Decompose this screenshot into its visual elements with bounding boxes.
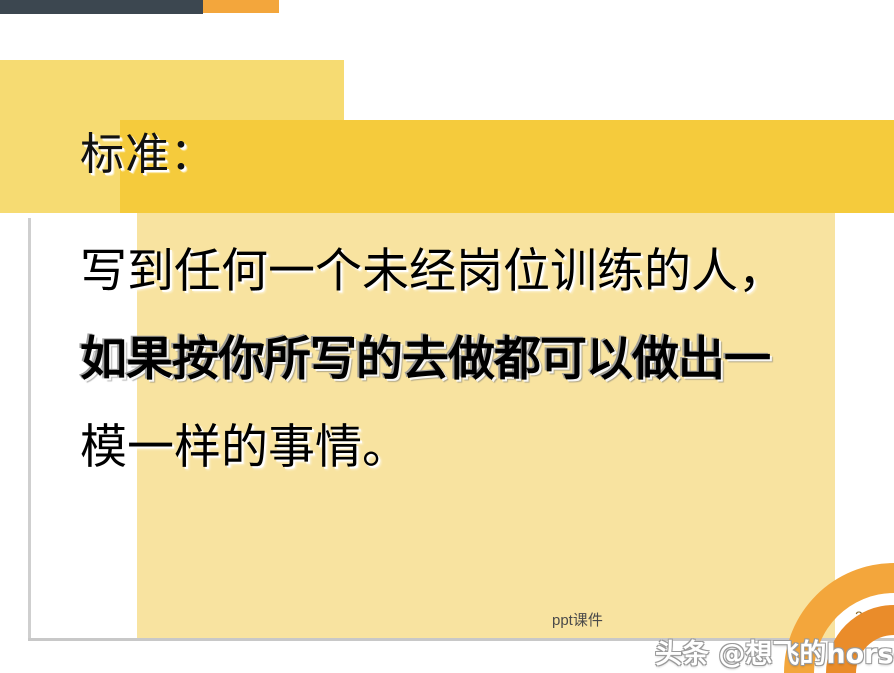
watermark-text: 头条 @想飞的horse bbox=[655, 632, 894, 671]
footer-note: ppt课件 bbox=[552, 609, 603, 630]
slide-title: 标准： bbox=[80, 131, 215, 179]
top-bar-dark-segment bbox=[0, 0, 203, 14]
slide-canvas: 标准： 写到任何一个未经岗位训练的人， 如果按你所写的去做都可以做出一 模一样的… bbox=[0, 0, 894, 673]
title-block-band bbox=[120, 120, 894, 213]
left-vertical-rule bbox=[28, 218, 31, 640]
page-number: 22 bbox=[855, 608, 871, 624]
body-line: 写到任何一个未经岗位训练的人， bbox=[80, 228, 870, 316]
body-line: 如果按你所写的去做都可以做出一 bbox=[80, 316, 870, 404]
slide-body: 写到任何一个未经岗位训练的人， 如果按你所写的去做都可以做出一 模一样的事情。 bbox=[80, 228, 870, 492]
top-bar-orange-segment bbox=[203, 0, 279, 13]
body-line: 模一样的事情。 bbox=[80, 404, 870, 492]
